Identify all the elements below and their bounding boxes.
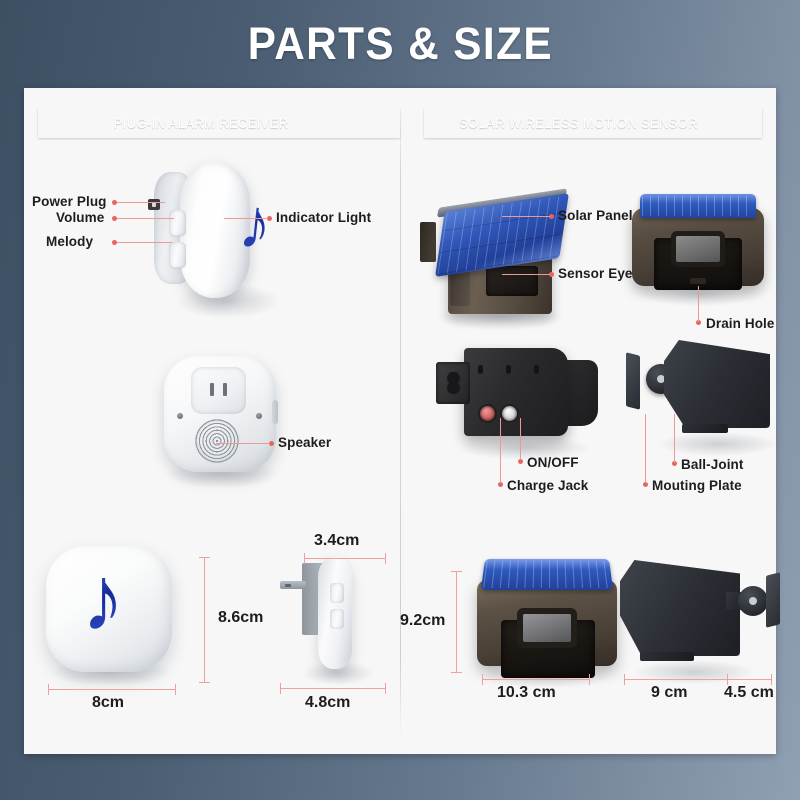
- sensor-lens: [523, 614, 571, 642]
- sensor-front-view: [632, 192, 772, 308]
- dim-value-sensor-depth: 9 cm: [651, 684, 687, 702]
- receiver-front-face: ♪: [46, 546, 172, 672]
- dim-cap-left: [304, 553, 305, 564]
- side-button[interactable]: [272, 400, 278, 424]
- callout-line-indicator-light: [224, 218, 268, 219]
- product-shadow: [634, 660, 754, 684]
- dim-line-sensor-mount-depth: [728, 679, 772, 680]
- dim-cap-left: [280, 683, 281, 694]
- screw-hole: [478, 365, 483, 374]
- callout-line-melody: [117, 242, 172, 243]
- section-banner-receiver: PIUG-IN ALARM RECEIVER: [38, 108, 400, 138]
- dim-cap-top: [451, 571, 462, 572]
- callout-mouting-plate: Mouting Plate: [652, 478, 742, 493]
- dim-line-receiver-width: [48, 689, 176, 690]
- callout-line-drain-hole: [698, 286, 699, 322]
- dim-cap-right: [175, 684, 176, 695]
- dim-line-receiver-depth-bottom: [280, 688, 386, 689]
- receiver-back-shell: [164, 356, 276, 472]
- screw-left: [177, 413, 183, 419]
- sensor-lens: [676, 236, 720, 262]
- solar-panel: [640, 194, 756, 218]
- callout-line-ball-joint: [674, 414, 675, 463]
- page-header: PARTS & SIZE: [0, 0, 800, 88]
- dim-value-sensor-mount-depth: 4.5 cm: [724, 684, 774, 702]
- callout-indicator-light: Indicator Light: [276, 210, 371, 225]
- sensor-base: [682, 424, 728, 433]
- power-plug-prong: [148, 199, 160, 210]
- callout-line-charge-jack: [500, 418, 501, 483]
- section-banner-sensor: SOLAR WIRELESS MOTION SENSOR: [424, 108, 762, 138]
- panel-divider: [400, 110, 401, 738]
- dim-value-sensor-width: 10.3 cm: [497, 684, 556, 702]
- dim-cap-right: [589, 674, 590, 685]
- dim-value-receiver-depth-top: 3.4cm: [314, 532, 359, 550]
- callout-line-volume: [117, 218, 174, 219]
- sensor-side-dimension-view: [620, 560, 796, 685]
- callout-charge-jack: Charge Jack: [507, 478, 588, 493]
- callout-solar-panel: Solar Panel: [558, 208, 633, 223]
- receiver-side-view: [274, 543, 394, 693]
- product-shadow: [658, 432, 778, 456]
- melody-button-side[interactable]: [330, 609, 344, 629]
- dim-value-receiver-width: 8cm: [92, 694, 124, 712]
- sensor-front-dimension-view: [477, 558, 627, 688]
- solar-panel: [481, 559, 613, 590]
- dim-cap-bottom: [199, 682, 210, 683]
- charge-jack[interactable]: [480, 406, 495, 421]
- dim-line-sensor-height: [456, 571, 457, 673]
- screw-right: [256, 413, 262, 419]
- content-card: PIUG-IN ALARM RECEIVER SOLAR WIRELESS MO…: [24, 88, 776, 754]
- dim-line-sensor-depth: [624, 679, 728, 680]
- dim-line-receiver-depth-top: [304, 558, 386, 559]
- sensor-eye-window: [486, 266, 538, 296]
- melody-button[interactable]: [169, 242, 186, 268]
- receiver-front-shell: ♪: [180, 162, 250, 298]
- dim-value-sensor-height: 9.2cm: [400, 612, 445, 630]
- screw-hole: [506, 365, 511, 374]
- sensor-side-view: [624, 338, 799, 458]
- receiver-back-view: [164, 356, 294, 486]
- dim-line-receiver-height: [204, 557, 205, 683]
- dim-cap-left: [48, 684, 49, 695]
- page-title: PARTS & SIZE: [247, 18, 552, 70]
- mounting-plate: [626, 352, 640, 409]
- callout-line-solar-panel: [502, 216, 550, 217]
- plug-prong: [280, 581, 306, 589]
- volume-button-side[interactable]: [330, 583, 344, 603]
- on-off-switch[interactable]: [502, 406, 517, 421]
- volume-button[interactable]: [169, 210, 186, 236]
- callout-power-plug: Power Plug: [32, 194, 107, 209]
- callout-sensor-eye: Sensor Eye: [558, 266, 633, 281]
- dim-cap-right: [385, 553, 386, 564]
- receiver-angled-view: ♪: [142, 156, 322, 326]
- receiver-front-view: ♪: [46, 546, 196, 696]
- callout-line-speaker: [216, 443, 270, 444]
- callout-line-power-plug: [117, 202, 165, 203]
- sensor-mount-block: [464, 348, 568, 436]
- sensor-base: [640, 652, 694, 661]
- plug-pin-left: [210, 383, 214, 396]
- mounting-arm: [420, 222, 436, 262]
- dim-value-receiver-height: 8.6cm: [218, 609, 263, 627]
- dim-cap-right: [385, 683, 386, 694]
- callout-ball-joint: Ball-Joint: [681, 457, 744, 472]
- dim-value-receiver-depth-bottom: 4.8cm: [305, 694, 350, 712]
- callout-volume: Volume: [56, 210, 104, 225]
- callout-line-mouting-plate: [645, 414, 646, 483]
- sensor-side-housing: [620, 560, 740, 656]
- dim-cap-left: [624, 674, 625, 685]
- dim-line-sensor-width: [482, 679, 590, 680]
- callout-drain-hole: Drain Hole: [706, 316, 775, 331]
- sensor-side-housing: [664, 340, 770, 428]
- callout-line-sensor-eye: [502, 274, 550, 275]
- music-note-icon: ♪: [236, 188, 274, 263]
- plug-block: [191, 367, 246, 414]
- sensor-back-view: [436, 340, 616, 460]
- section-banner-sensor-label: SOLAR WIRELESS MOTION SENSOR: [459, 116, 698, 131]
- mounting-bracket: [436, 362, 470, 404]
- callout-speaker: Speaker: [278, 435, 331, 450]
- speaker-grille: [195, 419, 239, 463]
- dim-cap-bottom: [451, 672, 462, 673]
- callout-melody: Melody: [46, 234, 93, 249]
- dim-cap-top: [199, 557, 210, 558]
- callout-on-off: ON/OFF: [527, 455, 579, 470]
- drain-hole: [690, 278, 706, 284]
- screw-hole: [534, 365, 539, 374]
- mounting-plate: [766, 572, 780, 627]
- dim-cap-left: [482, 674, 483, 685]
- ball-joint: [738, 586, 768, 616]
- plug-pin-right: [223, 383, 227, 396]
- callout-line-on-off: [520, 418, 521, 460]
- section-banner-receiver-label: PIUG-IN ALARM RECEIVER: [114, 116, 289, 131]
- music-note-icon: ♪: [82, 552, 124, 644]
